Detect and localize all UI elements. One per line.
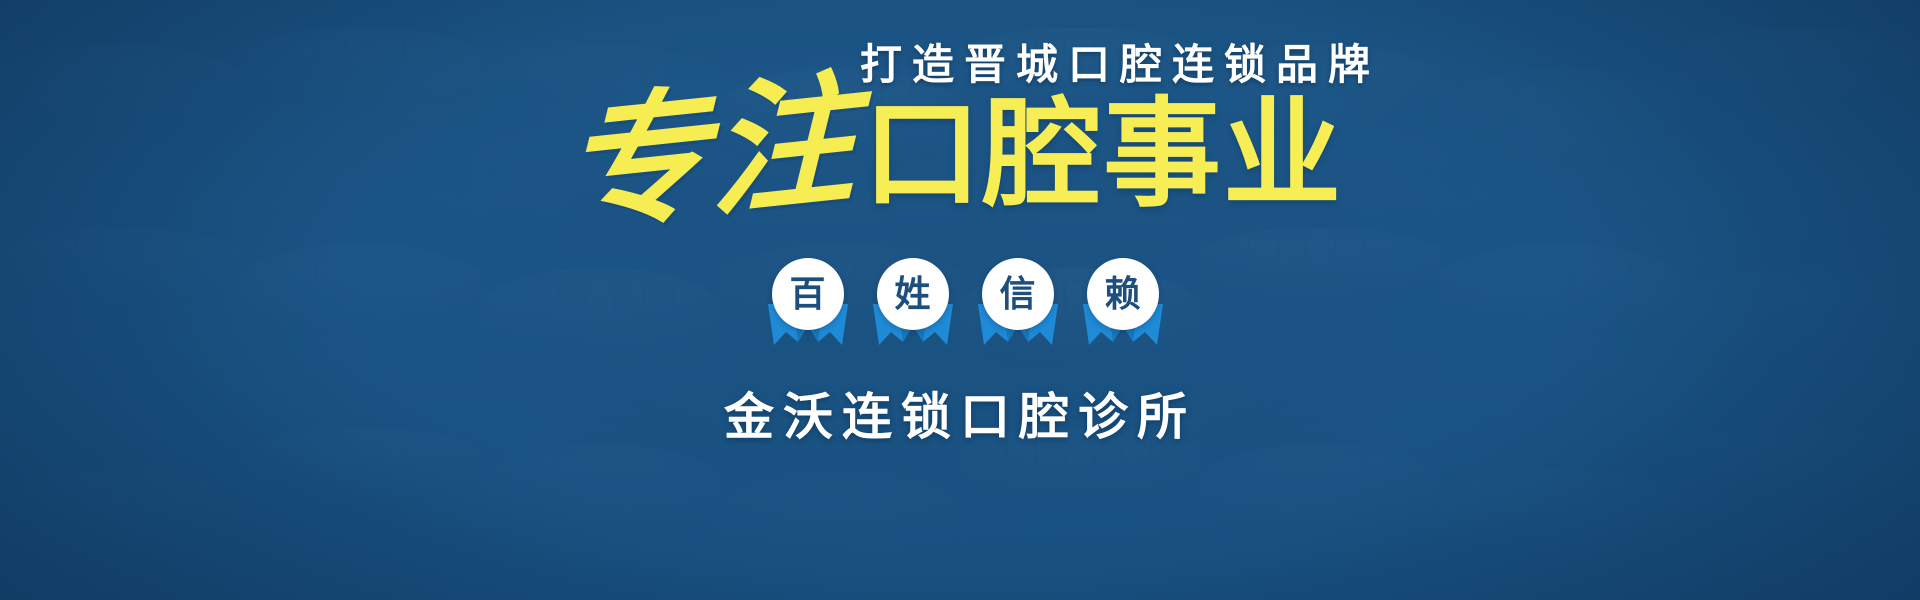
trust-badges-row: 百 姓 信 — [0, 258, 1920, 354]
badge-circle: 姓 — [877, 258, 949, 330]
trust-badge: 赖 — [1087, 258, 1159, 354]
trust-badge: 姓 — [877, 258, 949, 354]
badge-character: 信 — [999, 276, 1035, 312]
badge-character: 赖 — [1104, 276, 1140, 312]
badge-character: 百 — [789, 276, 825, 312]
badge-circle: 赖 — [1087, 258, 1159, 330]
headline-gothic-text: 口腔事业 — [863, 96, 1343, 214]
banner-headline: 专注 口腔事业 — [0, 76, 1920, 208]
badge-circle: 百 — [772, 258, 844, 330]
trust-badge: 百 — [772, 258, 844, 354]
headline-brush-text: 专注 — [564, 66, 873, 242]
badge-character: 姓 — [894, 276, 930, 312]
trust-badge: 信 — [982, 258, 1054, 354]
dental-clinic-banner: 打造晋城口腔连锁品牌 专注 口腔事业 百 — [0, 0, 1920, 600]
badge-circle: 信 — [982, 258, 1054, 330]
clinic-name: 金沃连锁口腔诊所 — [0, 392, 1920, 442]
